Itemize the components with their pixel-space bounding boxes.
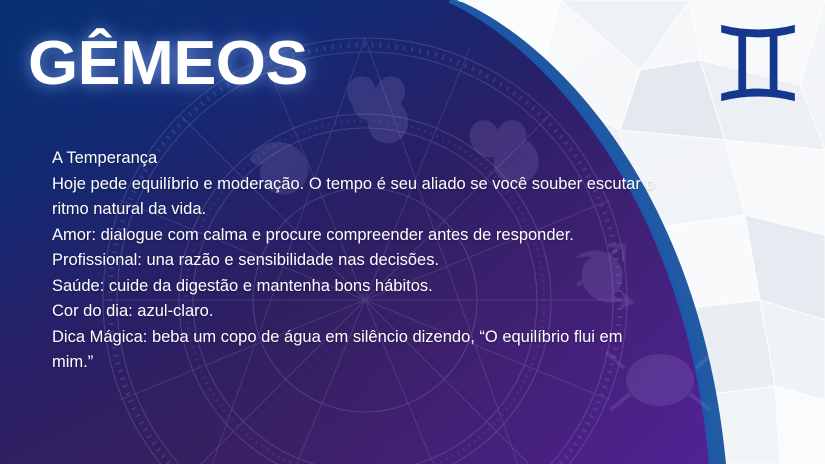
horoscope-line: Cor do dia: azul-claro. xyxy=(52,299,742,325)
horoscope-line: ritmo natural da vida. xyxy=(52,197,742,223)
card-content: GÊMEOS A Temperança Hoje pede equilíbrio… xyxy=(0,0,825,464)
horoscope-line: Dica Mágica: beba um copo de água em sil… xyxy=(52,325,742,351)
horoscope-line: Amor: dialogue com calma e procure compr… xyxy=(52,223,742,249)
horoscope-line: A Temperança xyxy=(52,146,742,172)
horoscope-line: Profissional: una razão e sensibilidade … xyxy=(52,248,742,274)
horoscope-line: Hoje pede equilíbrio e moderação. O temp… xyxy=(52,172,742,198)
horoscope-body: A Temperança Hoje pede equilíbrio e mode… xyxy=(52,146,742,376)
page-title: GÊMEOS xyxy=(28,33,308,95)
horoscope-card: ♊ xyxy=(0,0,825,464)
horoscope-line: mim.” xyxy=(52,350,742,376)
horoscope-line: Saúde: cuide da digestão e mantenha bons… xyxy=(52,274,742,300)
